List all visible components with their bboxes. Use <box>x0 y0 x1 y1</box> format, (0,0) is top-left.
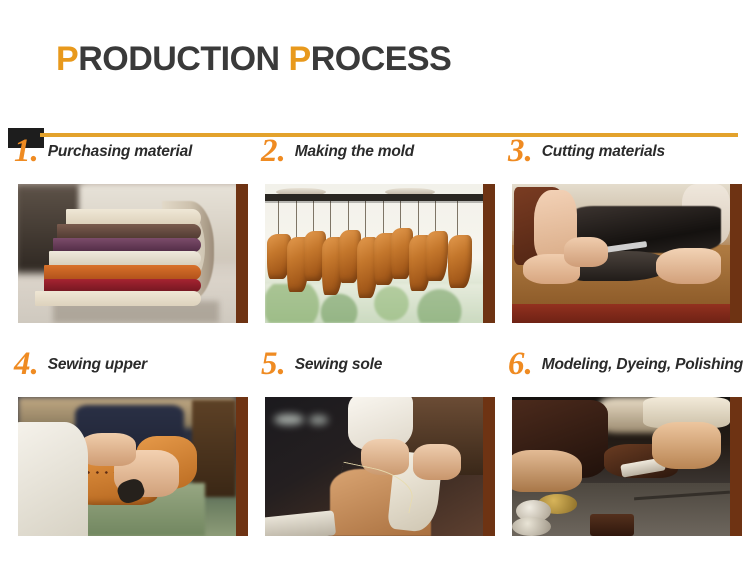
process-step-4[interactable]: 4.Sewing upper <box>14 348 260 561</box>
step-4-photo <box>18 397 236 536</box>
step-5-photo <box>265 397 483 536</box>
step-3-photo-band <box>730 184 742 323</box>
page-title: PRODUCTION PROCESS <box>56 40 451 79</box>
sewing-upper-illustration <box>18 397 236 536</box>
process-step-5[interactable]: 5.Sewing sole <box>261 348 507 561</box>
step-1-photo-band <box>236 184 248 323</box>
step-3-caption: 3.Cutting materials <box>508 135 665 173</box>
step-1-label: Purchasing material <box>48 144 192 160</box>
step-3-photo <box>512 184 730 323</box>
step-4-number: 4. <box>14 348 39 381</box>
step-6-number: 6. <box>508 348 533 381</box>
step-6-photo-band <box>730 397 742 536</box>
step-1-photo <box>18 184 236 323</box>
step-5-photo-band <box>483 397 495 536</box>
process-row-1: 1.Purchasing material 2.Making the mold <box>0 135 750 348</box>
process-step-3[interactable]: 3.Cutting materials <box>508 135 750 348</box>
step-6-photo <box>512 397 730 536</box>
step-5-caption: 5.Sewing sole <box>261 348 382 386</box>
step-3-number: 3. <box>508 135 533 168</box>
step-6-label: Modeling, Dyeing, Polishing <box>542 357 743 373</box>
page-header: PRODUCTION PROCESS <box>0 40 750 112</box>
shoe-lasts-illustration <box>265 184 483 323</box>
step-6-caption: 6.Modeling, Dyeing, Polishing <box>508 348 743 386</box>
step-1-caption: 1.Purchasing material <box>14 135 192 173</box>
step-4-caption: 4.Sewing upper <box>14 348 147 386</box>
process-step-2[interactable]: 2.Making the mold <box>261 135 507 348</box>
page-title-cap-1: P <box>56 40 78 78</box>
page-title-rest-2: ROCESS <box>311 40 452 78</box>
page-title-cap-2: P <box>289 40 311 78</box>
step-4-label: Sewing upper <box>48 357 147 373</box>
sewing-sole-illustration <box>265 397 483 536</box>
process-steps-grid: 1.Purchasing material 2.Making the mold <box>0 135 750 561</box>
leather-cutting-illustration <box>512 184 730 323</box>
step-2-photo <box>265 184 483 323</box>
step-2-photo-band <box>483 184 495 323</box>
step-5-label: Sewing sole <box>295 357 382 373</box>
process-row-2: 4.Sewing upper 5.Sewing sole <box>0 348 750 561</box>
step-2-caption: 2.Making the mold <box>261 135 414 173</box>
step-3-label: Cutting materials <box>542 144 665 160</box>
process-step-6[interactable]: 6.Modeling, Dyeing, Polishing <box>508 348 750 561</box>
step-5-number: 5. <box>261 348 286 381</box>
page-title-rest-1: RODUCTION <box>78 40 288 78</box>
process-step-1[interactable]: 1.Purchasing material <box>14 135 260 348</box>
step-2-label: Making the mold <box>295 144 414 160</box>
step-1-number: 1. <box>14 135 39 168</box>
polishing-shoe-illustration <box>512 397 730 536</box>
step-2-number: 2. <box>261 135 286 168</box>
leather-stack-illustration <box>18 184 236 323</box>
step-4-photo-band <box>236 397 248 536</box>
